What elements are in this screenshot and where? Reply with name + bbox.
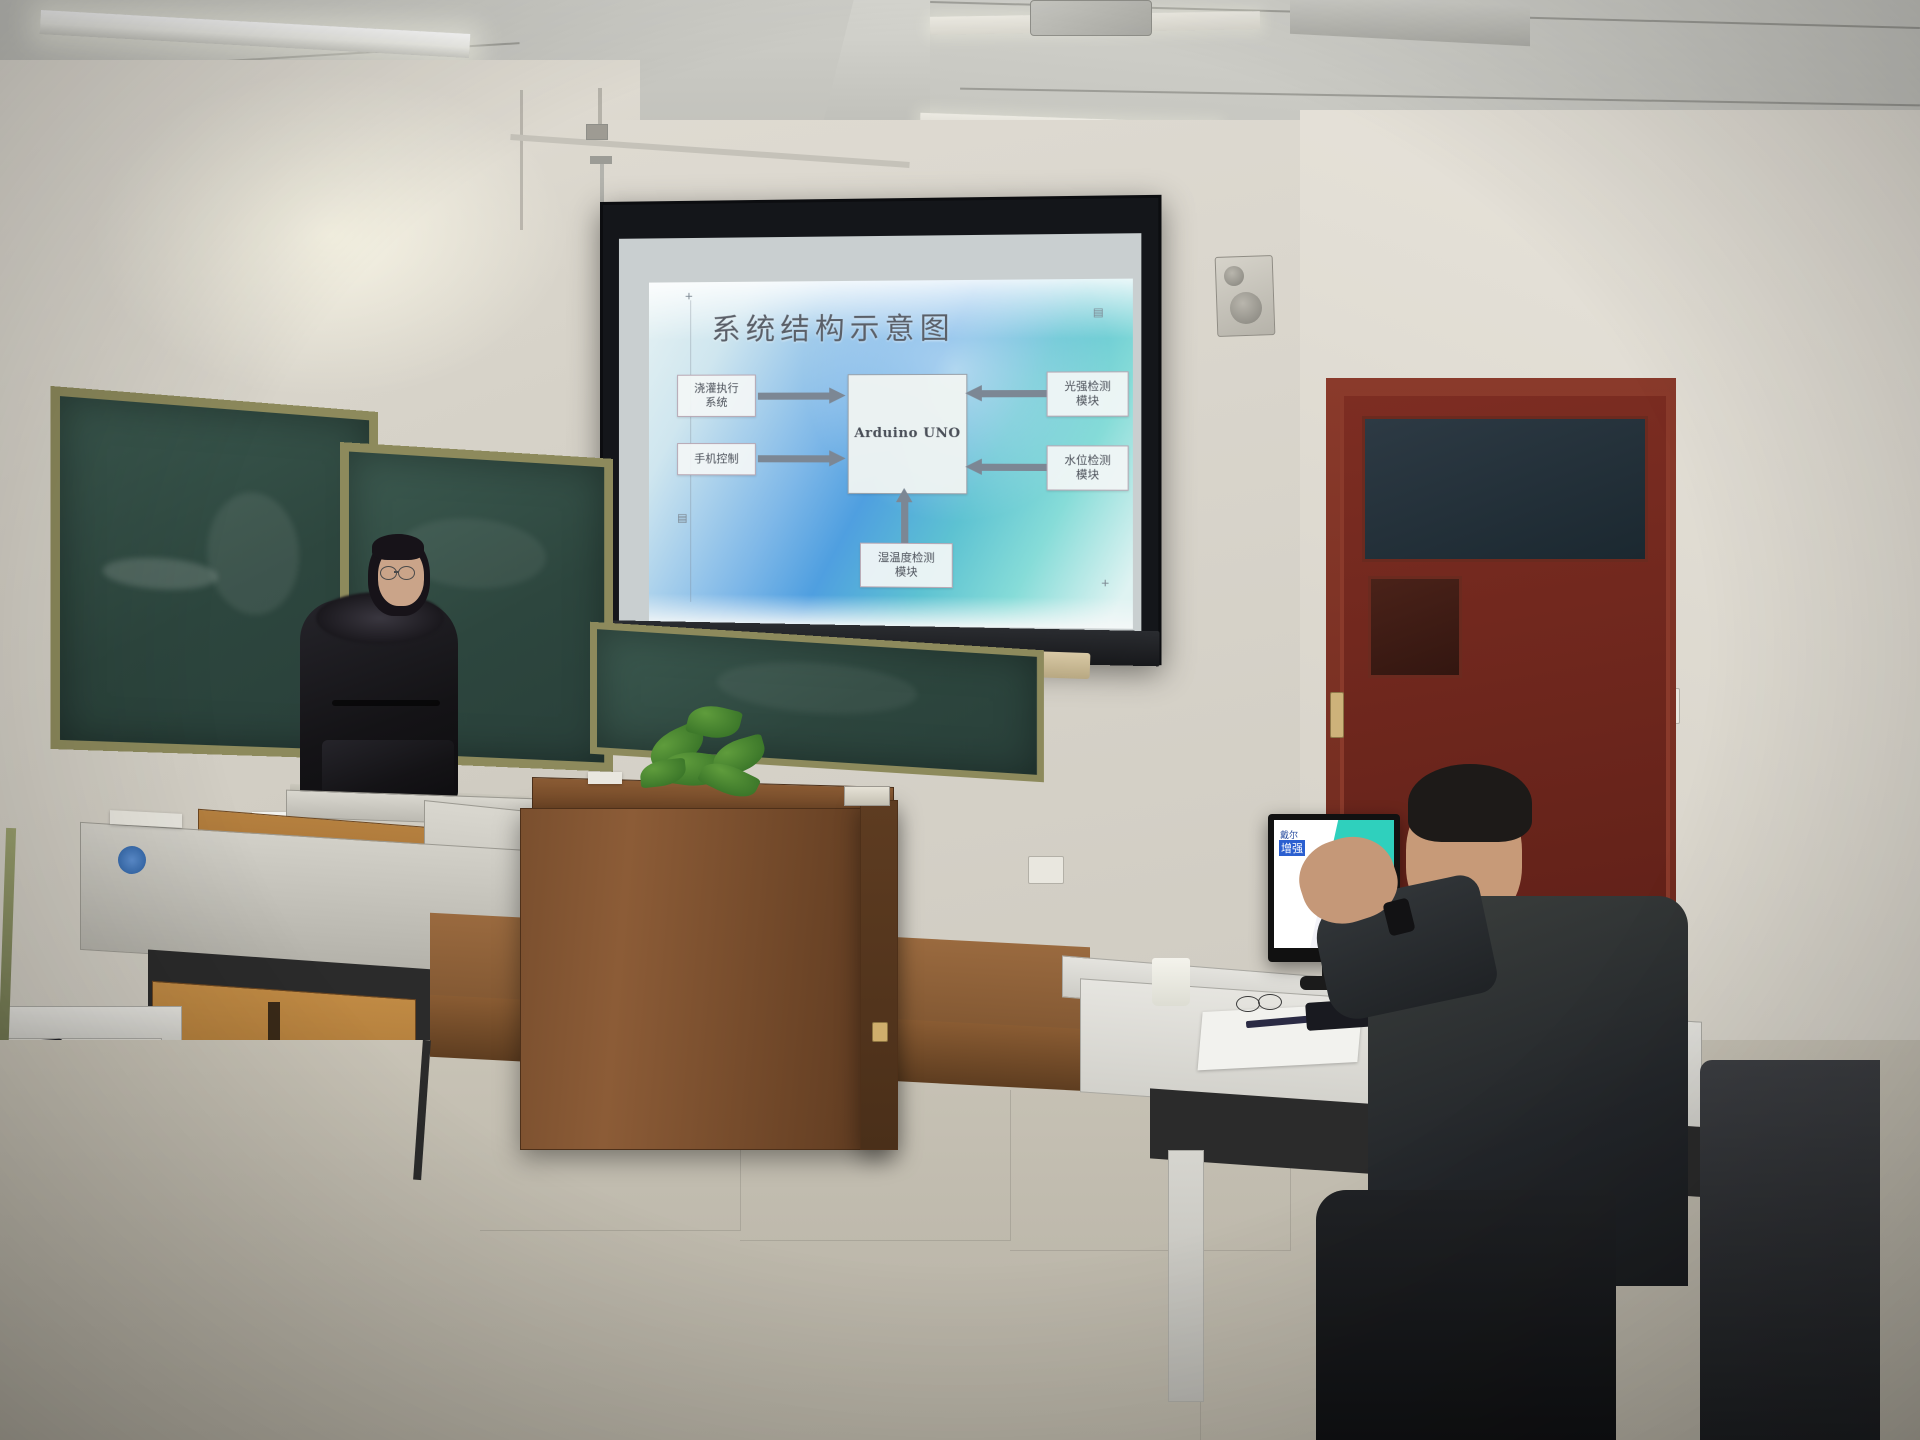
- presenter-belt: [332, 700, 440, 706]
- chalk-smudge-2: [207, 489, 299, 616]
- arrowhead-irrigation: [829, 387, 845, 403]
- floor-tile-4: [900, 1250, 1201, 1440]
- diagram-node-water-sensor-line1: 水位检测: [1064, 454, 1110, 469]
- diagram-node-light-sensor: 光强检测 模块: [1047, 371, 1129, 416]
- podium-side: [860, 800, 898, 1150]
- eyeglasses-left-lens: [1236, 996, 1260, 1012]
- presenter-hair-front: [372, 534, 424, 560]
- projector-hanger: [598, 88, 602, 128]
- diagram-node-light-sensor-line1: 光强检测: [1064, 380, 1110, 395]
- diagram-node-irrigation-line2: 系统: [705, 396, 727, 410]
- arrowhead-water: [965, 459, 982, 475]
- screen-bracket-left: [590, 156, 612, 164]
- arrowhead-humidity: [896, 488, 913, 502]
- podium-note: [588, 772, 622, 784]
- wall-corner-line: [520, 90, 523, 230]
- diagram-node-irrigation: 浇灌执行 系统: [677, 375, 756, 417]
- diagram-node-water-sensor: 水位检测 模块: [1047, 445, 1129, 490]
- diagram-node-irrigation-line1: 浇灌执行: [694, 382, 738, 396]
- arrowhead-light: [965, 385, 982, 401]
- arrow-irrigation-to-arduino: [758, 393, 831, 400]
- eyeglasses-right-lens: [1258, 994, 1282, 1010]
- arrow-humidity-to-arduino: [901, 500, 908, 543]
- presenter-glasses-left: [380, 566, 397, 580]
- evaluator-lap: [1316, 1190, 1616, 1440]
- screen-hanger-left: [600, 160, 604, 206]
- diagram-node-humidity-sensor-line2: 模块: [895, 565, 918, 579]
- presentation-slide: + + ▤ ▤ 系统结构示意图 Arduino UNO 浇灌执行 系统: [649, 279, 1133, 629]
- diagram-node-phone-control: 手机控制: [677, 443, 756, 475]
- chair-back: [1700, 1060, 1880, 1440]
- podium: [520, 808, 890, 1150]
- chalk-smudge-1: [103, 555, 218, 592]
- diagram-node-water-sensor-line2: 模块: [1076, 468, 1099, 483]
- slide-title: 系统结构示意图: [711, 305, 955, 349]
- projector-mount: [586, 124, 608, 140]
- diagram-node-arduino: Arduino UNO: [848, 374, 968, 494]
- door-window-upper: [1362, 416, 1648, 562]
- arrow-water-to-arduino: [982, 464, 1047, 471]
- presenter-glasses-right: [398, 566, 415, 580]
- diagram-node-humidity-sensor: 湿温度检测 模块: [860, 543, 953, 588]
- slide-glyph-left: ▤: [677, 511, 687, 524]
- classroom-scene: + + ▤ ▤ 系统结构示意图 Arduino UNO 浇灌执行 系统: [0, 0, 1920, 1440]
- diagram-node-arduino-label: Arduino UNO: [854, 426, 960, 443]
- screen-surface: + + ▤ ▤ 系统结构示意图 Arduino UNO 浇灌执行 系统: [619, 233, 1141, 635]
- arrow-phone-to-arduino: [758, 455, 831, 462]
- projection-screen: + + ▤ ▤ 系统结构示意图 Arduino UNO 浇灌执行 系统: [600, 195, 1161, 665]
- speaker-cone-top: [1224, 266, 1244, 286]
- chalk-smudge-4: [717, 657, 917, 720]
- slide-glyph-right: ▤: [1093, 306, 1104, 319]
- paper-cup[interactable]: [1152, 958, 1190, 1006]
- diagram-node-phone-control-label: 手机控制: [694, 452, 738, 466]
- monitor-text-line2: 增强: [1279, 840, 1305, 856]
- door-handle[interactable]: [1330, 692, 1344, 738]
- diagram-node-light-sensor-line2: 模块: [1076, 394, 1099, 409]
- lectern-badge: [118, 846, 146, 874]
- podium-name-plate: [844, 786, 890, 806]
- arrowhead-phone: [829, 450, 845, 466]
- ceiling-vent: [1030, 0, 1152, 36]
- presenter-glasses-bridge: [394, 571, 399, 573]
- podium-latch[interactable]: [872, 1022, 888, 1042]
- door-window-lower: [1368, 576, 1462, 678]
- evaluator-hair: [1408, 764, 1532, 842]
- evaluator-desk-leg: [1168, 1150, 1204, 1402]
- diagram-node-humidity-sensor-line1: 湿温度检测: [878, 551, 935, 566]
- slide-crop-mark-topleft: +: [685, 288, 693, 303]
- wall-light-glow: [90, 70, 570, 400]
- speaker-cone-bottom: [1230, 292, 1262, 324]
- slide-crop-mark-bottomright: +: [1101, 575, 1109, 590]
- wall-outlet[interactable]: [1028, 856, 1064, 884]
- arrow-light-to-arduino: [982, 390, 1047, 397]
